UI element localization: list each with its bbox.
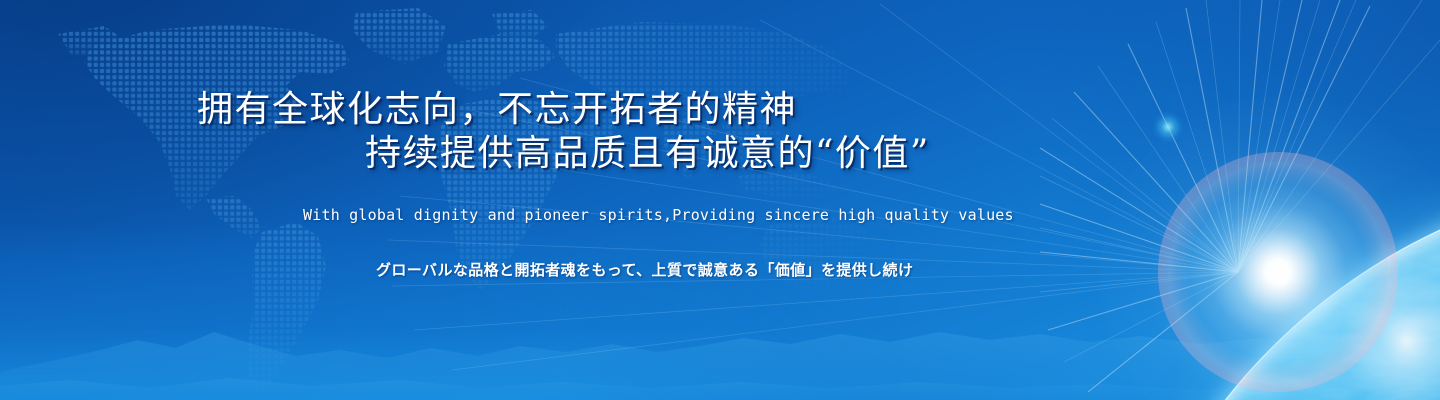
headline-line-1: 拥有全球化志向，不忘开拓者的精神 — [197, 92, 797, 128]
tagline-english: With global dignity and pioneer spirits,… — [303, 206, 1014, 224]
hero-banner: 拥有全球化志向，不忘开拓者的精神 持续提供高品质且有诚意的“价值” With g… — [0, 0, 1440, 400]
sun-halo-ring — [1158, 152, 1398, 392]
planet-atmosphere-rim — [1100, 176, 1440, 400]
sun-light-rays — [1040, 0, 1440, 400]
star-glow-dot — [1153, 112, 1183, 142]
planet-surface-texture — [1100, 176, 1440, 400]
headline-line-2: 持续提供高品质且有诚意的“价值” — [365, 136, 930, 172]
planet-body — [1100, 176, 1440, 400]
sun-core-flare — [1168, 162, 1388, 382]
sun-bloom-glow — [1100, 96, 1440, 400]
tagline-japanese: グローバルな品格と開拓者魂をもって、上質で誠意ある「価値」を提供し続け — [376, 259, 913, 280]
planet-terminator-shading — [1100, 176, 1440, 400]
banner-text-block: 拥有全球化志向，不忘开拓者的精神 持续提供高品质且有诚意的“价值” With g… — [0, 0, 1060, 400]
planet-and-sun-graphic — [1040, 0, 1440, 400]
